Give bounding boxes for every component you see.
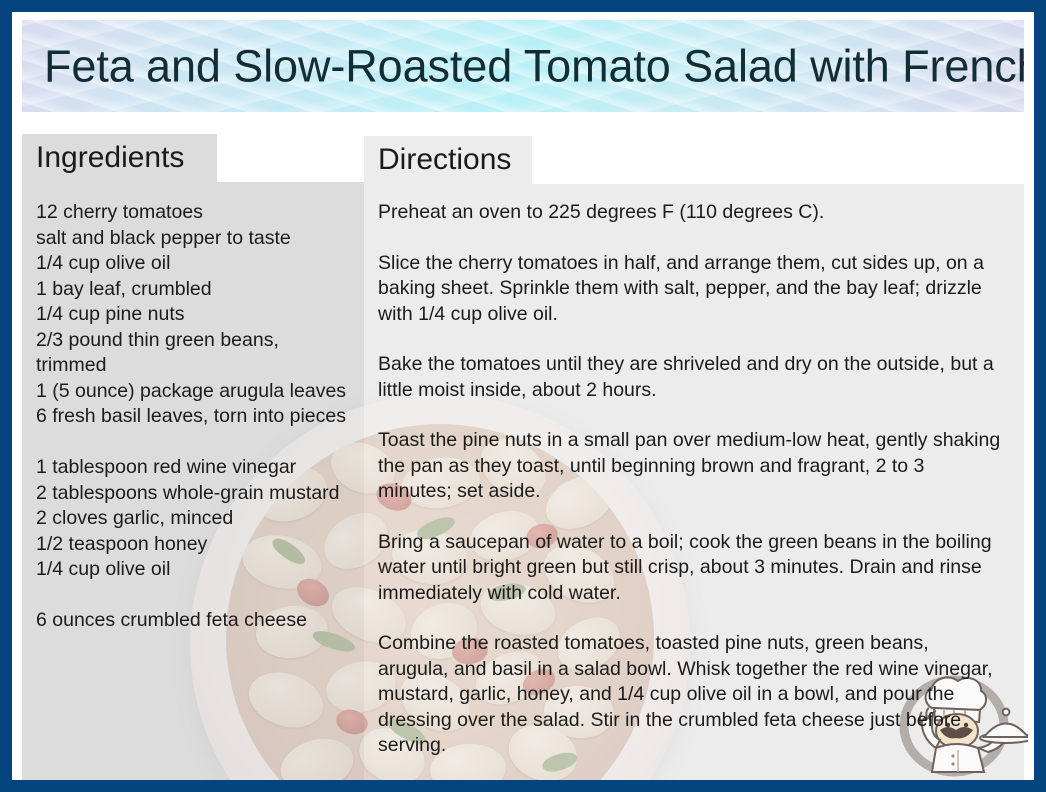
directions-panel: Preheat an oven to 225 degrees F (110 de… <box>364 184 1024 780</box>
ingredient-item: 6 fresh basil leaves, torn into pieces <box>36 404 352 430</box>
ingredient-item: 1 tablespoon red wine vinegar <box>36 455 352 481</box>
ingredient-item: 12 cherry tomatoes <box>36 200 352 226</box>
ingredient-item: 2/3 pound thin green beans, trimmed <box>36 328 352 379</box>
direction-step: Preheat an oven to 225 degrees F (110 de… <box>378 200 1002 226</box>
ingredient-item: 1/4 cup olive oil <box>36 557 352 583</box>
ingredient-item: 1 (5 ounce) package arugula leaves <box>36 379 352 405</box>
directions-list: Preheat an oven to 225 degrees F (110 de… <box>364 184 1024 759</box>
ingredient-item: 2 cloves garlic, minced <box>36 506 352 532</box>
ingredient-spacer <box>36 430 352 456</box>
ingredients-panel: 12 cherry tomatoessalt and black pepper … <box>22 182 364 780</box>
direction-step: Bring a saucepan of water to a boil; coo… <box>378 530 1002 607</box>
ingredient-item: salt and black pepper to taste <box>36 226 352 252</box>
directions-heading: Directions <box>364 136 532 184</box>
direction-step: Bake the tomatoes until they are shrivel… <box>378 352 1002 403</box>
ingredients-heading: Ingredients <box>22 134 217 182</box>
ingredient-item: 1/4 cup pine nuts <box>36 302 352 328</box>
direction-step: Toast the pine nuts in a small pan over … <box>378 428 1002 505</box>
direction-step: Slice the cherry tomatoes in half, and a… <box>378 251 1002 328</box>
recipe-title: Feta and Slow-Roasted Tomato Salad with … <box>44 44 1024 89</box>
ingredient-item: 1/4 cup olive oil <box>36 251 352 277</box>
ingredient-item: 2 tablespoons whole-grain mustard <box>36 481 352 507</box>
ingredient-item: 1/2 teaspoon honey <box>36 532 352 558</box>
recipe-card: Feta and Slow-Roasted Tomato Salad with … <box>12 12 1034 780</box>
direction-step: Combine the roasted tomatoes, toasted pi… <box>378 631 1002 759</box>
title-banner: Feta and Slow-Roasted Tomato Salad with … <box>22 20 1024 112</box>
ingredient-item: 6 ounces crumbled feta cheese <box>36 608 352 634</box>
ingredients-list: 12 cherry tomatoessalt and black pepper … <box>22 182 364 634</box>
ingredient-spacer <box>36 583 352 609</box>
ingredient-item: 1 bay leaf, crumbled <box>36 277 352 303</box>
